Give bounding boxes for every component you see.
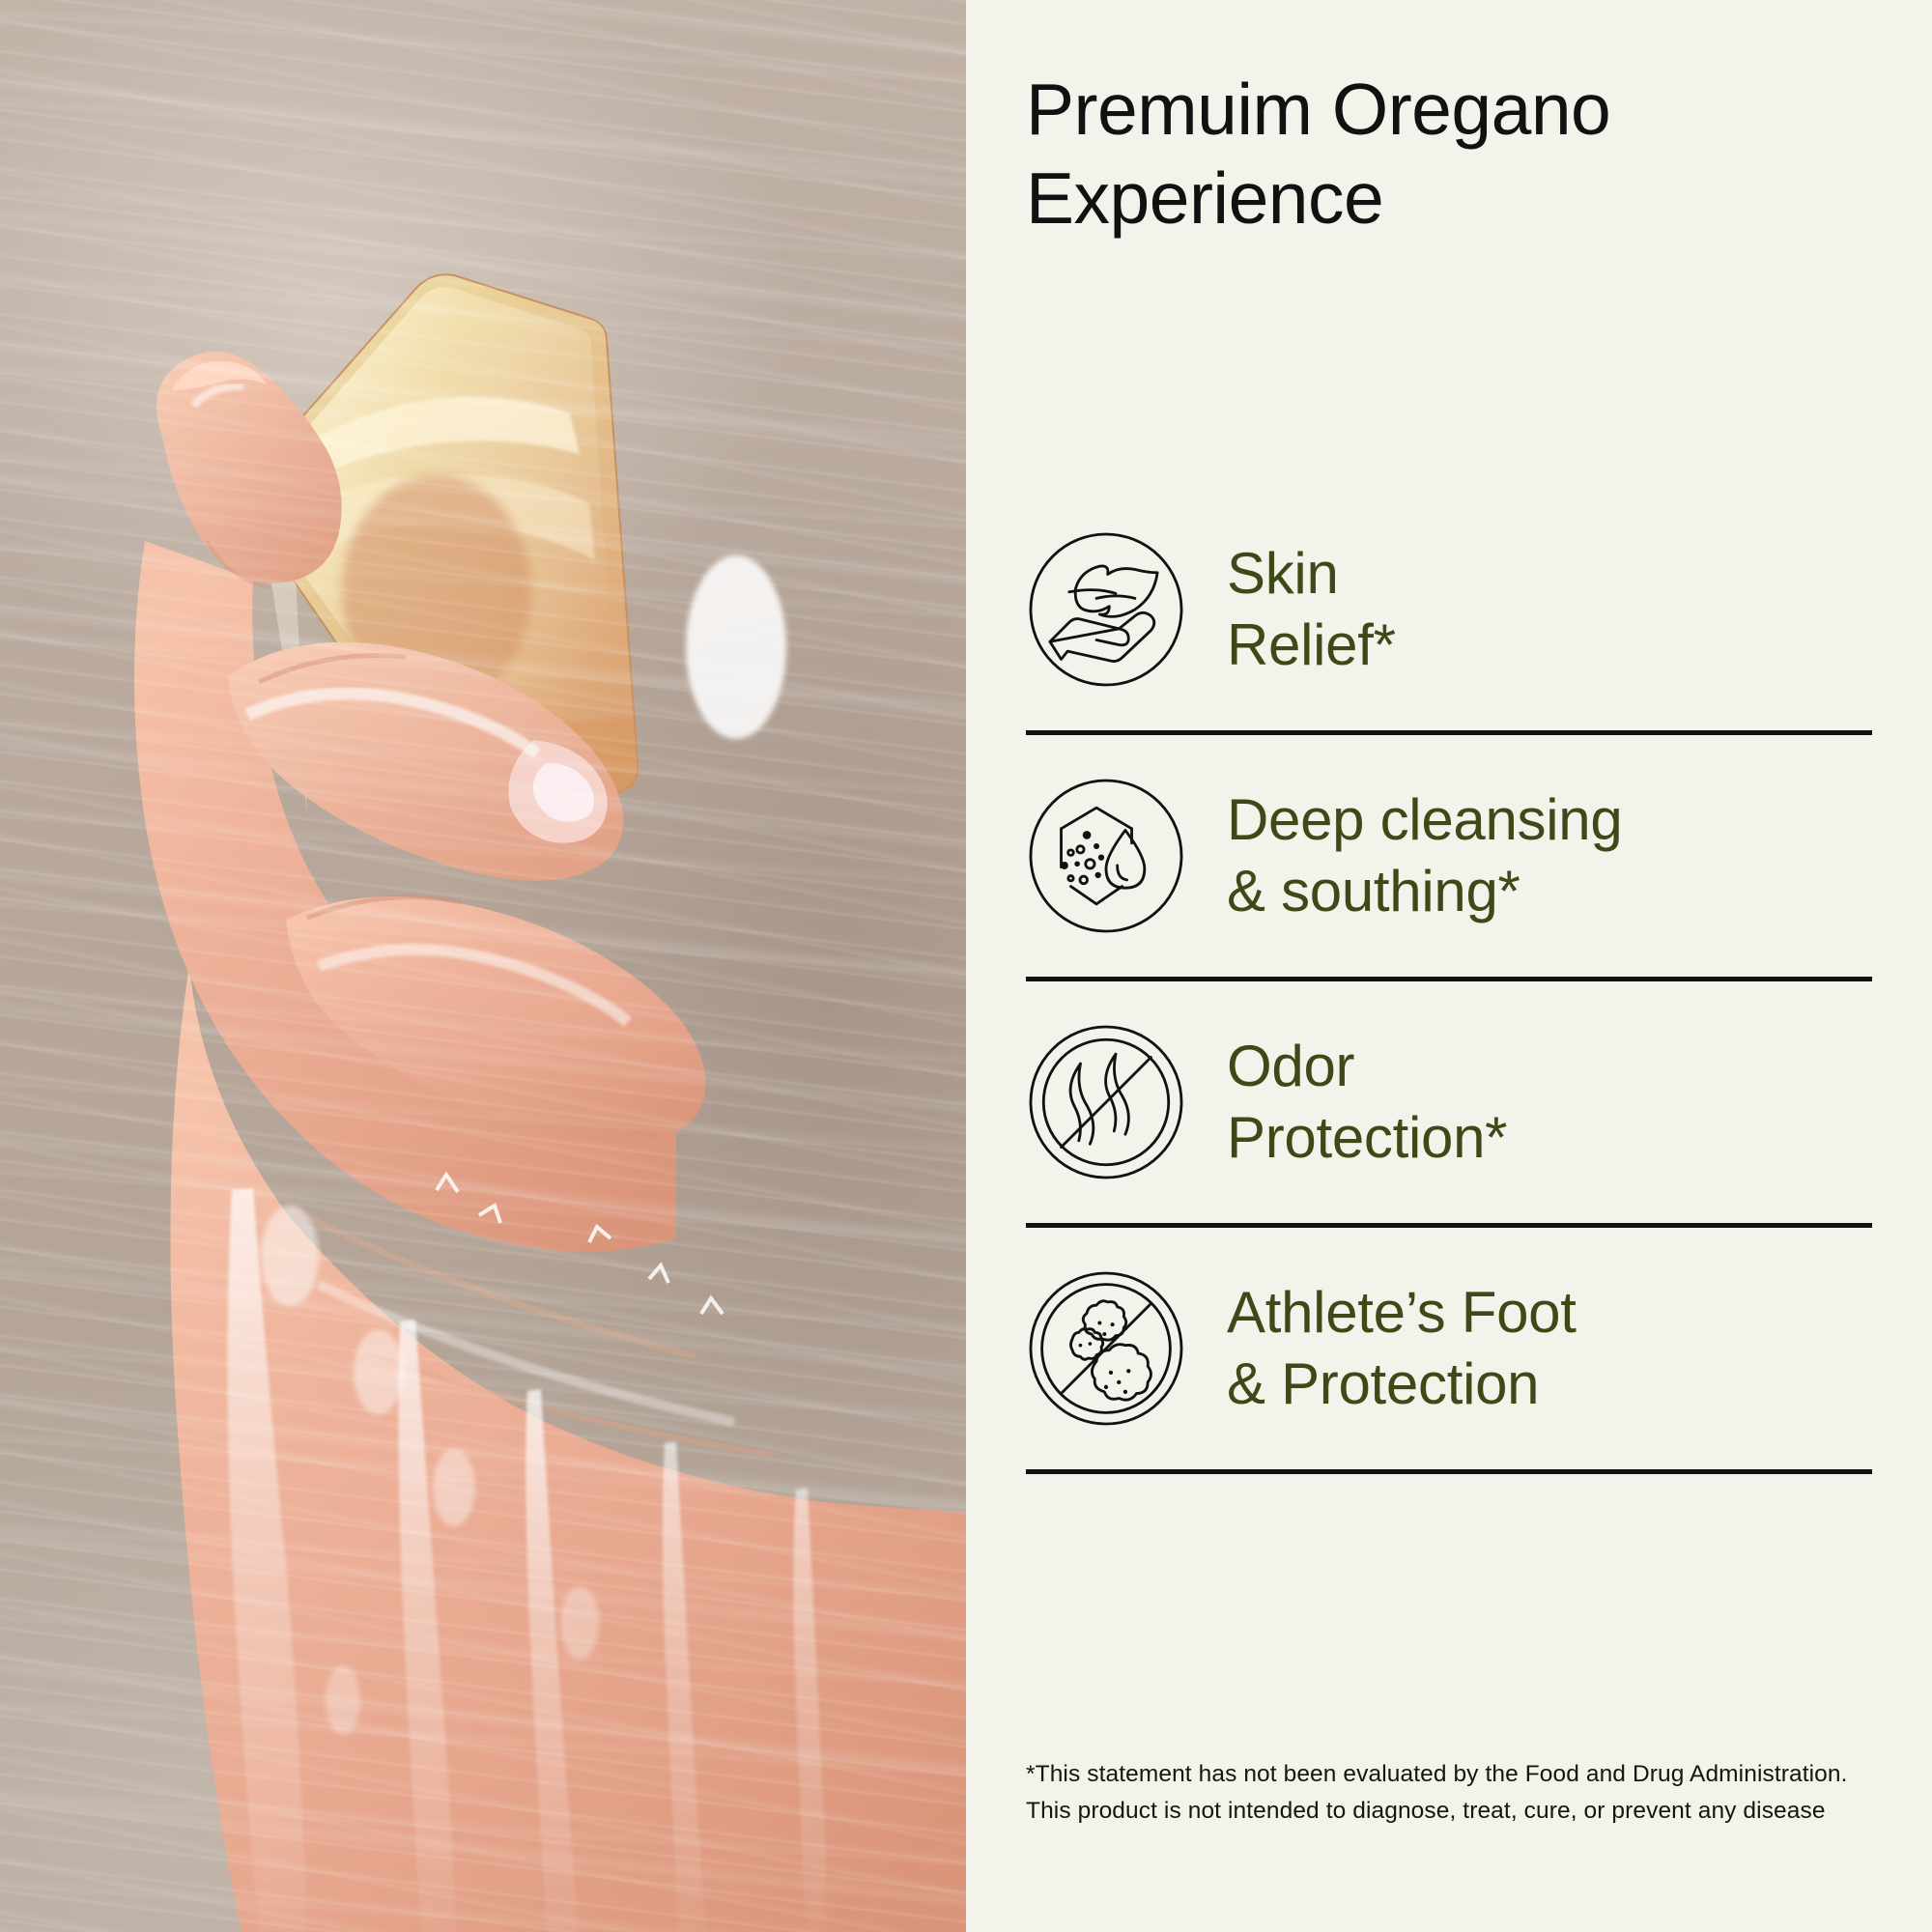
feature-divider [1026, 1469, 1872, 1474]
falling-water-streaks-soft [0, 0, 966, 1932]
feature-row: Athlete’s Foot & Protection [1026, 1228, 1872, 1469]
feature-label: Deep cleansing & southing* [1227, 784, 1622, 928]
no-odor-smoke-icon [1026, 1022, 1186, 1182]
feature-label: Athlete’s Foot & Protection [1227, 1277, 1577, 1421]
feature-label: Odor Protection* [1227, 1031, 1507, 1175]
page-title: Premuim Oregano Experience [1026, 66, 1876, 242]
feature-row: Deep cleansing & southing* [1026, 735, 1872, 977]
feature-list: Skin Relief* [1026, 489, 1872, 1474]
leaf-in-hand-icon [1026, 529, 1186, 690]
feature-label: Skin Relief* [1227, 538, 1396, 682]
shield-droplet-particles-icon [1026, 776, 1186, 936]
infographic-canvas: Premuim Oregano Experience Skin Relief* [0, 0, 1932, 1932]
feature-row: Odor Protection* [1026, 981, 1872, 1223]
no-fungus-germs-icon [1026, 1268, 1186, 1429]
disclaimer-footnote: *This statement has not been evaluated b… [1026, 1756, 1895, 1830]
feature-row: Skin Relief* [1026, 489, 1872, 730]
product-photo-panel [0, 0, 966, 1932]
content-panel: Premuim Oregano Experience Skin Relief* [966, 0, 1932, 1932]
